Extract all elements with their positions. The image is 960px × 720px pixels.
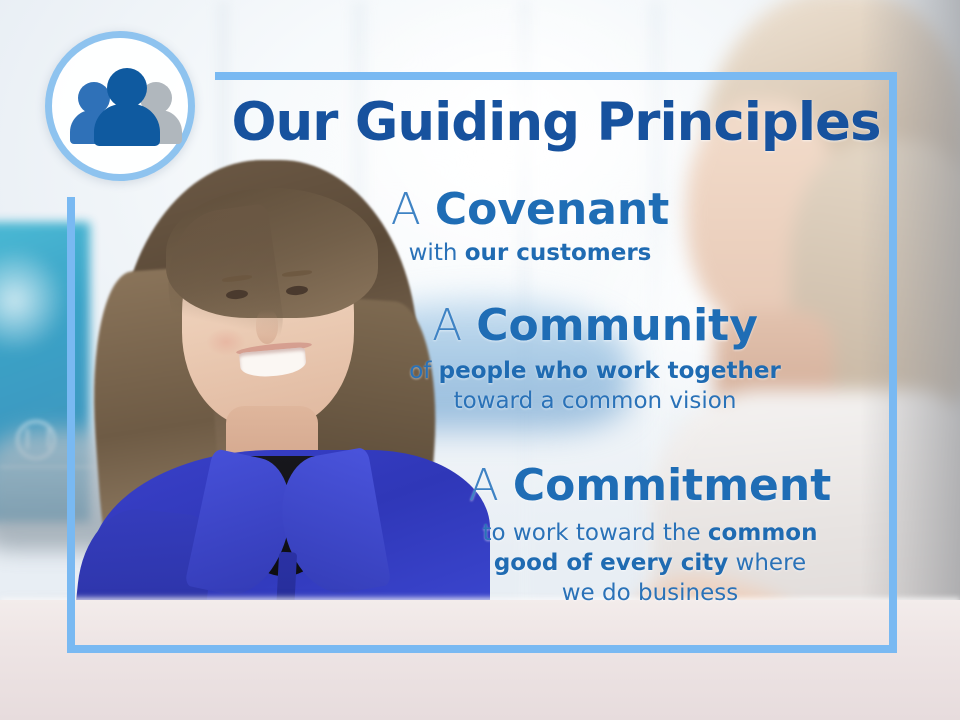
banner-car-graphic: [0, 240, 74, 350]
detail-emphasis: our customers: [465, 240, 652, 266]
principle-heading-covenant: A Covenant: [300, 187, 760, 233]
detail-line: good of every city where: [400, 549, 900, 579]
principle-heading-community: A Community: [350, 303, 840, 349]
principle-keyword: Community: [476, 300, 758, 351]
principle-heading-commitment: A Commitment: [400, 463, 900, 509]
detail-emphasis: people who work together: [439, 358, 781, 384]
principle-community: A Community of people who work togethert…: [350, 303, 840, 417]
detail-text: with: [409, 240, 465, 266]
detail-text: to work toward the: [483, 520, 708, 546]
principle-detail-covenant: with our customers: [300, 239, 760, 269]
detail-line: we do business: [400, 579, 900, 609]
person-center-body-icon: [94, 104, 160, 146]
detail-text: toward a common vision: [454, 388, 737, 414]
detail-emphasis: common: [708, 520, 818, 546]
person-center-head-icon: [107, 68, 147, 108]
detail-line: toward a common vision: [350, 387, 840, 417]
people-badge-circle: [45, 31, 195, 181]
principle-keyword: Covenant: [435, 184, 669, 235]
principle-keyword: Commitment: [513, 460, 831, 511]
detail-emphasis: good of every city: [494, 550, 728, 576]
principle-detail-commitment: to work toward the commongood of every c…: [400, 519, 900, 609]
desk-surface: [0, 600, 960, 720]
principle-detail-community: of people who work togethertoward a comm…: [350, 357, 840, 417]
employee-nose: [256, 310, 278, 344]
detail-line: with our customers: [300, 239, 760, 269]
principle-commitment: A Commitment to work toward the commongo…: [400, 463, 900, 608]
principle-article: A: [432, 300, 462, 351]
principle-covenant: A Covenant with our customers: [300, 187, 760, 269]
detail-line: to work toward the common: [400, 519, 900, 549]
detail-text: we do business: [562, 580, 739, 606]
principle-article: A: [391, 184, 421, 235]
poster-canvas: FLOW AUTOMOTIVE FLOW: [0, 0, 960, 720]
detail-line: of people who work together: [350, 357, 840, 387]
principle-article: A: [469, 460, 499, 511]
page-title: Our Guiding Principles: [215, 96, 897, 150]
people-group-icon: [74, 68, 180, 148]
detail-text: where: [728, 550, 806, 576]
detail-text: of: [409, 358, 438, 384]
